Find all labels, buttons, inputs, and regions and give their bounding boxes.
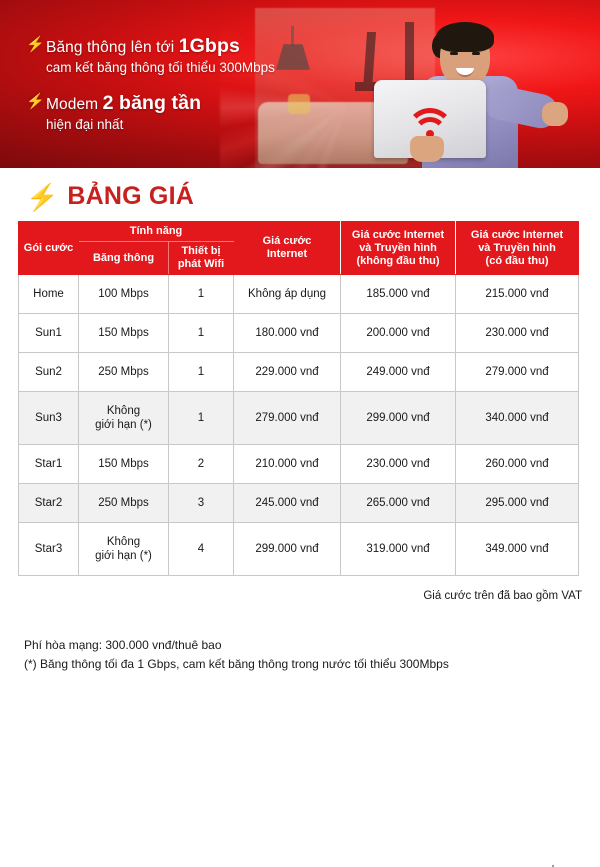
cell-tv-no-receiver-text: 265.000 vnđ	[341, 496, 455, 510]
col-header-internet-price: Giá cước Internet	[234, 222, 341, 275]
footer-notes: Phí hòa mạng: 300.000 vnđ/thuê bao (*) B…	[24, 636, 600, 674]
cell-tv-no-receiver-text: 319.000 vnđ	[341, 542, 455, 556]
cell-bandwidth-text-2: giới hạn (*)	[79, 418, 168, 432]
cell-bandwidth: 150 Mbps	[79, 445, 169, 484]
cell-wifi-devices: 1	[169, 353, 234, 392]
person-hair	[436, 22, 494, 52]
cell-bandwidth-text-2: giới hạn (*)	[79, 549, 168, 563]
price-table-body: Home100 Mbps1Không áp dụng185.000 vnđ215…	[19, 275, 579, 576]
header-row-1: Gói cước Tính năng Giá cước Internet Giá…	[19, 222, 579, 242]
cell-wifi-devices: 1	[169, 275, 234, 314]
table-row: Home100 Mbps1Không áp dụng185.000 vnđ215…	[19, 275, 579, 314]
cell-internet-price: 245.000 vnđ	[234, 484, 341, 523]
cell-bandwidth-text: 100 Mbps	[79, 287, 168, 301]
col-header-tv-no-receiver-l2: và Truyền hình	[343, 242, 453, 255]
col-header-wifi-device: Thiết bị phát Wifi	[169, 242, 234, 275]
col-header-tv-no-receiver-l3: (không đầu thu)	[343, 255, 453, 268]
person-eye-right	[472, 52, 480, 55]
cell-wifi-devices: 2	[169, 445, 234, 484]
cell-tv-no-receiver: 230.000 vnđ	[341, 445, 456, 484]
cell-tv-with-receiver: 340.000 vnđ	[456, 392, 579, 445]
cell-package: Sun2	[19, 353, 79, 392]
price-table: Gói cước Tính năng Giá cước Internet Giá…	[18, 221, 579, 576]
cell-tv-no-receiver-text: 230.000 vnđ	[341, 457, 455, 471]
cell-package-text: Home	[19, 287, 78, 301]
cell-package: Sun3	[19, 392, 79, 445]
cell-wifi-devices: 4	[169, 523, 234, 576]
page-title: BẢNG GIÁ	[67, 182, 194, 211]
cell-tv-with-receiver: 260.000 vnđ	[456, 445, 579, 484]
lightning-bolt-icon: ⚡	[26, 36, 40, 54]
cell-tv-no-receiver: 200.000 vnđ	[341, 314, 456, 353]
col-header-tv-no-receiver-l1: Giá cước Internet	[343, 229, 453, 242]
banner-bullet-1-prefix: Băng thông lên tới	[46, 39, 179, 56]
cell-bandwidth-text: Không	[79, 535, 168, 549]
col-header-tv-with-receiver-l3: (có đầu thu)	[458, 255, 576, 268]
cell-internet-price-text: 210.000 vnđ	[234, 457, 340, 471]
cell-tv-no-receiver-text: 200.000 vnđ	[341, 326, 455, 340]
banner-bullet-1-highlight: 1Gbps	[179, 35, 240, 57]
cell-tv-with-receiver: 349.000 vnđ	[456, 523, 579, 576]
cell-wifi-devices-text: 1	[169, 326, 233, 340]
lightning-bolt-icon: ⚡	[26, 93, 40, 111]
banner-bullet-2-main: Modem 2 băng tần	[46, 93, 201, 115]
cell-wifi-devices-text: 1	[169, 411, 233, 425]
table-row: Star2250 Mbps3245.000 vnđ265.000 vnđ295.…	[19, 484, 579, 523]
table-row: Sun3Khônggiới hạn (*)1279.000 vnđ299.000…	[19, 392, 579, 445]
holding-hand-icon	[410, 136, 444, 162]
col-header-internet-price-l1: Giá cước	[236, 235, 338, 248]
cell-internet-price-text: Không áp dụng	[234, 287, 340, 301]
banner-bullet-1-main: Băng thông lên tới 1Gbps	[46, 36, 275, 58]
cell-tv-with-receiver-text: 340.000 vnđ	[456, 411, 578, 425]
section-title-row: ⚡ BẢNG GIÁ	[26, 182, 600, 211]
cell-tv-no-receiver: 319.000 vnđ	[341, 523, 456, 576]
cell-internet-price: Không áp dụng	[234, 275, 341, 314]
table-row: Star3Khônggiới hạn (*)4299.000 vnđ319.00…	[19, 523, 579, 576]
banner-bullet-1: ⚡ Băng thông lên tới 1Gbps cam kết băng …	[26, 36, 366, 77]
cell-bandwidth-text: Không	[79, 404, 168, 418]
price-section: ⚡ BẢNG GIÁ Gói cước Tính năng Giá cước I…	[0, 182, 600, 674]
cell-bandwidth-text: 150 Mbps	[79, 457, 168, 471]
cell-tv-no-receiver-text: 249.000 vnđ	[341, 365, 455, 379]
cell-package: Star1	[19, 445, 79, 484]
person-eye-left	[450, 52, 458, 55]
cell-tv-with-receiver-text: 260.000 vnđ	[456, 457, 578, 471]
cell-internet-price: 210.000 vnđ	[234, 445, 341, 484]
cell-bandwidth-text: 150 Mbps	[79, 326, 168, 340]
banner-bullet-2-highlight: 2 băng tần	[103, 92, 202, 114]
cell-tv-no-receiver: 265.000 vnđ	[341, 484, 456, 523]
banner-bullet-2-sub: hiện đại nhất	[46, 115, 201, 134]
cell-bandwidth-text: 250 Mbps	[79, 496, 168, 510]
cell-tv-no-receiver: 249.000 vnđ	[341, 353, 456, 392]
cell-tv-with-receiver-text: 215.000 vnđ	[456, 287, 578, 301]
table-row: Star1150 Mbps2210.000 vnđ230.000 vnđ260.…	[19, 445, 579, 484]
cell-wifi-devices: 3	[169, 484, 234, 523]
cell-package: Sun1	[19, 314, 79, 353]
cell-bandwidth: 250 Mbps	[79, 353, 169, 392]
cell-tv-with-receiver-text: 349.000 vnđ	[456, 542, 578, 556]
cell-internet-price: 279.000 vnđ	[234, 392, 341, 445]
banner-bullet-2: ⚡ Modem 2 băng tần hiện đại nhất	[26, 93, 366, 134]
cell-tv-with-receiver-text: 279.000 vnđ	[456, 365, 578, 379]
cell-internet-price-text: 299.000 vnđ	[234, 542, 340, 556]
cell-tv-no-receiver-text: 185.000 vnđ	[341, 287, 455, 301]
cell-tv-with-receiver-text: 230.000 vnđ	[456, 326, 578, 340]
table-row: Sun1150 Mbps1180.000 vnđ200.000 vnđ230.0…	[19, 314, 579, 353]
cell-package: Star2	[19, 484, 79, 523]
col-header-features-group: Tính năng	[79, 222, 234, 242]
cell-internet-price: 180.000 vnđ	[234, 314, 341, 353]
cell-bandwidth: Khônggiới hạn (*)	[79, 523, 169, 576]
col-header-tv-with-receiver-l1: Giá cước Internet	[458, 229, 576, 242]
cell-internet-price-text: 229.000 vnđ	[234, 365, 340, 379]
cell-internet-price: 229.000 vnđ	[234, 353, 341, 392]
cell-bandwidth: 250 Mbps	[79, 484, 169, 523]
cell-internet-price: 299.000 vnđ	[234, 523, 341, 576]
table-row: Sun2250 Mbps1229.000 vnđ249.000 vnđ279.0…	[19, 353, 579, 392]
cell-wifi-devices-text: 4	[169, 542, 233, 556]
cell-tv-with-receiver: 215.000 vnđ	[456, 275, 579, 314]
cell-wifi-devices-text: 1	[169, 287, 233, 301]
cell-tv-no-receiver-text: 299.000 vnđ	[341, 411, 455, 425]
cell-package-text: Sun3	[19, 411, 78, 425]
cell-package-text: Star1	[19, 457, 78, 471]
cell-package-text: Sun1	[19, 326, 78, 340]
cell-internet-price-text: 245.000 vnđ	[234, 496, 340, 510]
cell-package-text: Star2	[19, 496, 78, 510]
col-header-internet-price-l2: Internet	[236, 248, 338, 261]
col-header-tv-with-receiver: Giá cước Internet và Truyền hình (có đầu…	[456, 222, 579, 275]
cell-tv-no-receiver: 185.000 vnđ	[341, 275, 456, 314]
cell-tv-with-receiver: 295.000 vnđ	[456, 484, 579, 523]
cell-internet-price-text: 279.000 vnđ	[234, 411, 340, 425]
lightning-bolt-icon: ⚡	[26, 184, 58, 210]
vat-note: Giá cước trên đã bao gồm VAT	[0, 590, 582, 602]
cell-bandwidth: 100 Mbps	[79, 275, 169, 314]
banner-bullet-2-prefix: Modem	[46, 96, 103, 113]
cell-wifi-devices: 1	[169, 314, 234, 353]
cell-wifi-devices-text: 3	[169, 496, 233, 510]
cell-package: Star3	[19, 523, 79, 576]
cell-package-text: Star3	[19, 542, 78, 556]
cell-package: Home	[19, 275, 79, 314]
asterisk-note: (*) Băng thông tối đa 1 Gbps, cam kết bă…	[24, 655, 600, 674]
person-with-laptop	[382, 18, 572, 168]
cell-wifi-devices-text: 1	[169, 365, 233, 379]
cell-internet-price-text: 180.000 vnđ	[234, 326, 340, 340]
setup-fee-note: Phí hòa mạng: 300.000 vnđ/thuê bao	[24, 636, 600, 655]
cell-bandwidth-text: 250 Mbps	[79, 365, 168, 379]
col-header-wifi-device-l2: phát Wifi	[171, 258, 231, 271]
cell-wifi-devices-text: 2	[169, 457, 233, 471]
promo-banner: ⚡ Băng thông lên tới 1Gbps cam kết băng …	[0, 0, 600, 168]
col-header-package: Gói cước	[19, 222, 79, 275]
cell-tv-with-receiver: 279.000 vnđ	[456, 353, 579, 392]
col-header-bandwidth: Băng thông	[79, 242, 169, 275]
cell-bandwidth: 150 Mbps	[79, 314, 169, 353]
price-table-header: Gói cước Tính năng Giá cước Internet Giá…	[19, 222, 579, 275]
col-header-wifi-device-l1: Thiết bị	[171, 245, 231, 258]
banner-bullet-1-sub: cam kết băng thông tối thiểu 300Mbps	[46, 58, 275, 77]
cell-wifi-devices: 1	[169, 392, 234, 445]
col-header-tv-with-receiver-l2: và Truyền hình	[458, 242, 576, 255]
banner-text-block: ⚡ Băng thông lên tới 1Gbps cam kết băng …	[26, 36, 366, 150]
cell-bandwidth: Khônggiới hạn (*)	[79, 392, 169, 445]
cell-tv-with-receiver-text: 295.000 vnđ	[456, 496, 578, 510]
col-header-tv-no-receiver: Giá cước Internet và Truyền hình (không …	[341, 222, 456, 275]
cell-tv-with-receiver: 230.000 vnđ	[456, 314, 579, 353]
cell-package-text: Sun2	[19, 365, 78, 379]
cell-tv-no-receiver: 299.000 vnđ	[341, 392, 456, 445]
pointing-hand-icon	[542, 102, 568, 126]
